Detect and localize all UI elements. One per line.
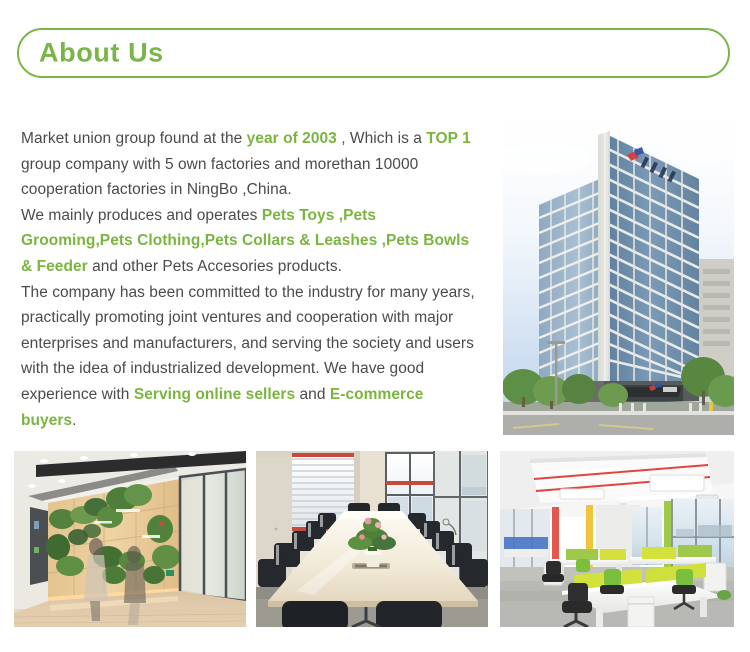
highlighted-text: TOP 1 xyxy=(426,130,470,147)
company-headquarters-building-image xyxy=(503,119,734,435)
highlighted-text: Serving online sellers xyxy=(134,386,295,403)
body-text: . xyxy=(72,412,76,429)
body-text: , Which is a xyxy=(337,130,426,147)
about-us-description: Market union group found at the year of … xyxy=(21,126,477,433)
highlighted-text: year of 2003 xyxy=(247,130,337,147)
section-header: About Us xyxy=(17,28,730,78)
body-text: and other Pets Accesories products. xyxy=(88,258,342,275)
body-text: group company with 5 own factories and m… xyxy=(21,156,418,199)
body-text: Market union group found at the xyxy=(21,130,247,147)
about-paragraph: Market union group found at the year of … xyxy=(21,126,477,203)
about-paragraph: The company has been committed to the in… xyxy=(21,280,477,434)
conference-room-image xyxy=(256,451,488,627)
office-lobby-green-wall-image xyxy=(14,451,246,627)
body-text: and xyxy=(295,386,330,403)
page-title: About Us xyxy=(39,38,164,69)
about-paragraph: We mainly produces and operates Pets Toy… xyxy=(21,203,477,280)
body-text: We mainly produces and operates xyxy=(21,207,262,224)
open-plan-office-image xyxy=(500,451,734,627)
